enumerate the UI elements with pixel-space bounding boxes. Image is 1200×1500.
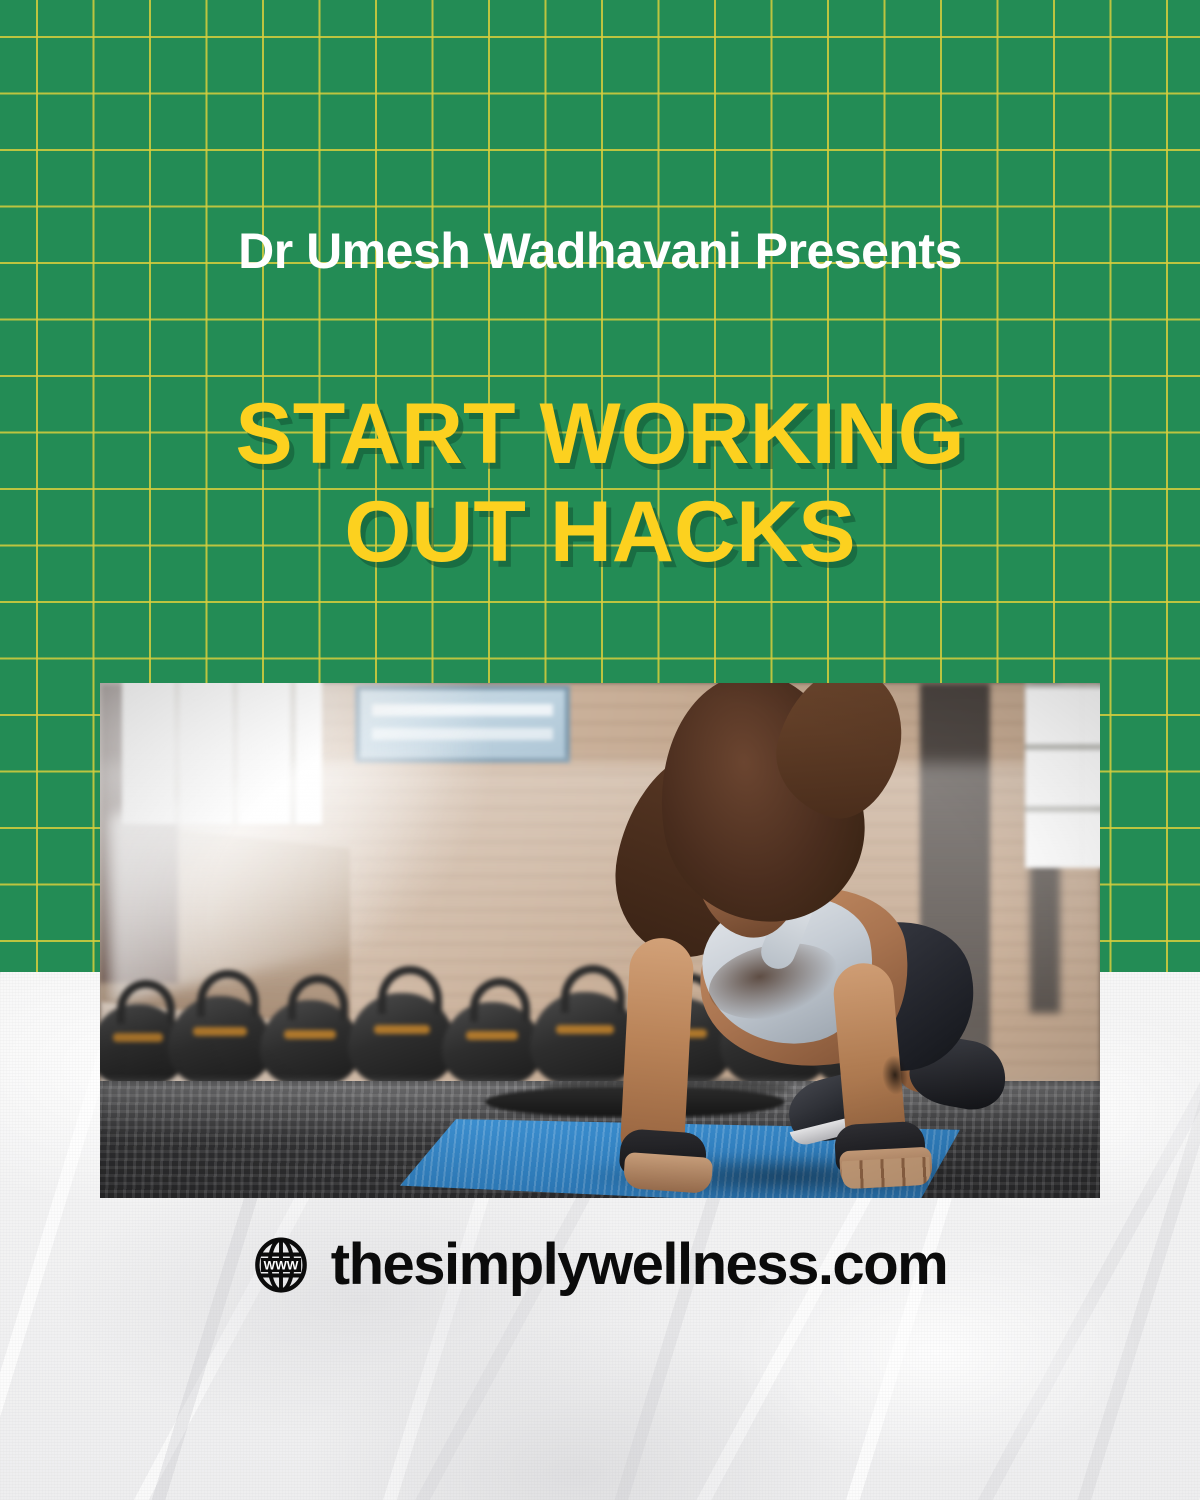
title-line-2: OUT HACKS (0, 483, 1200, 581)
globe-www-icon: WWW (253, 1237, 309, 1293)
workout-photo (100, 683, 1100, 1198)
footer-website-bar: WWW thesimplywellness.com (0, 1236, 1200, 1294)
presenter-line: Dr Umesh Wadhavani Presents (0, 226, 1200, 276)
page-title: START WORKING OUT HACKS (0, 385, 1200, 581)
photo-vignette (100, 683, 1100, 1198)
website-url[interactable]: thesimplywellness.com (331, 1236, 947, 1294)
poster-canvas: Dr Umesh Wadhavani Presents START WORKIN… (0, 0, 1200, 1500)
globe-icon-www-text: WWW (263, 1258, 298, 1272)
title-line-1: START WORKING (235, 386, 964, 482)
